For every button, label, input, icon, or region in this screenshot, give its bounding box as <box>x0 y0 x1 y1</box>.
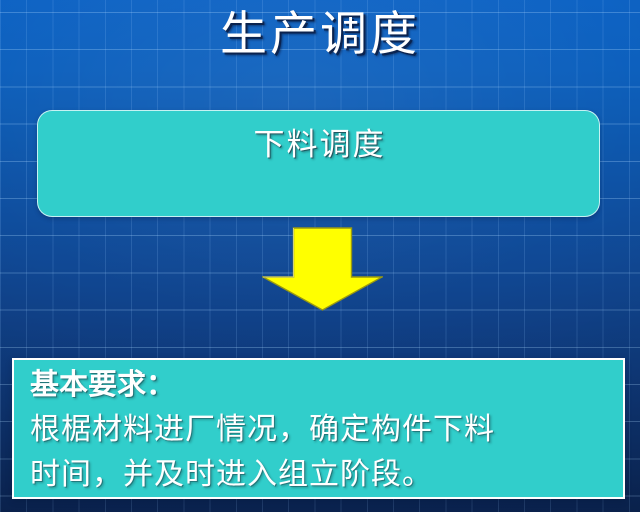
requirement-box[interactable]: 基本要求： 根椐材料进厂情况，确定构件下料 时间，并及时进入组立阶段。 <box>12 358 625 499</box>
arrow-down-icon <box>262 227 383 311</box>
requirement-heading: 基本要求： <box>30 362 615 407</box>
process-box-label: 下料调度 <box>38 124 601 166</box>
requirement-body-line-2: 时间，并及时进入组立阶段。 <box>30 452 615 497</box>
requirement-body-line-1: 根椐材料进厂情况，确定构件下料 <box>30 407 615 452</box>
slide-canvas: 生产调度 下料调度 基本要求： 根椐材料进厂情况，确定构件下料 时间，并及时进入… <box>0 0 640 512</box>
requirement-body: 根椐材料进厂情况，确定构件下料 时间，并及时进入组立阶段。 <box>30 407 615 497</box>
process-box-unloading-schedule[interactable]: 下料调度 <box>37 110 600 217</box>
page-title: 生产调度 <box>0 4 640 66</box>
requirement-box-content: 基本要求： 根椐材料进厂情况，确定构件下料 时间，并及时进入组立阶段。 <box>30 362 615 497</box>
